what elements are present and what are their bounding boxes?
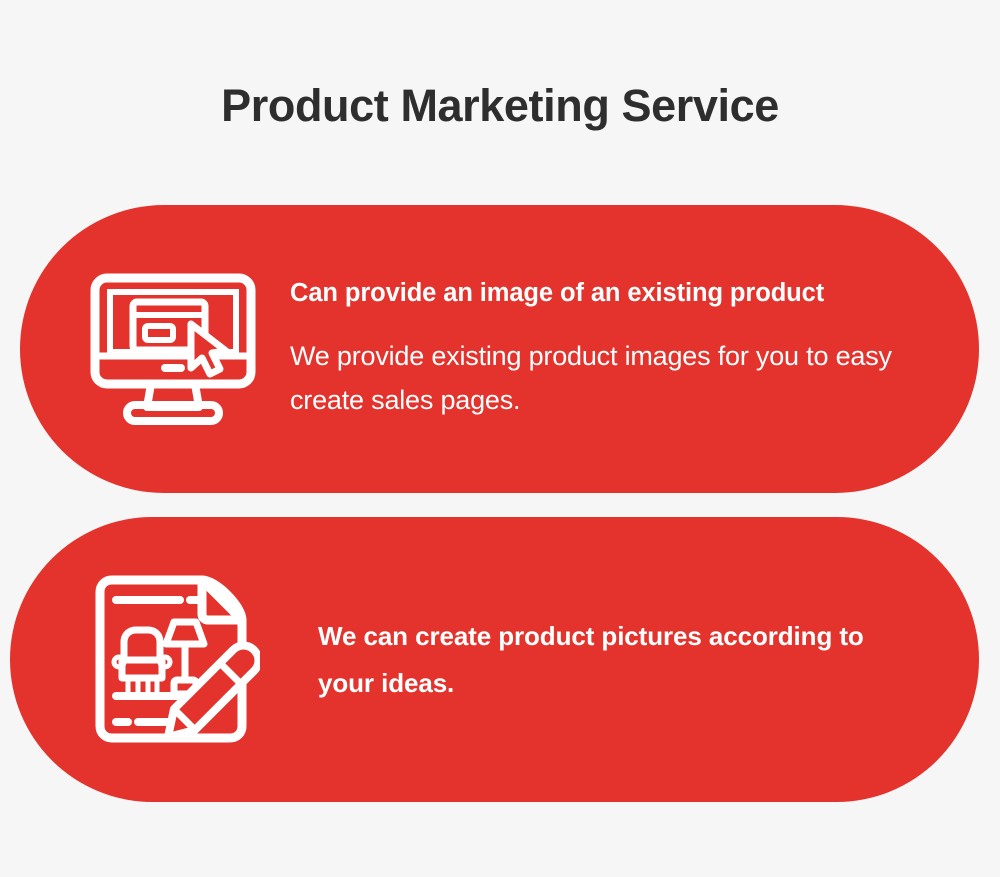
card-2-heading: We can create product pictures according… <box>318 613 919 707</box>
card-1-heading: Can provide an image of an existing prod… <box>290 276 919 310</box>
card-2-icon-wrapper <box>80 574 270 746</box>
card-1-icon-wrapper <box>78 272 268 427</box>
feature-card-existing-product[interactable]: Can provide an image of an existing prod… <box>20 205 979 493</box>
card-2-text-block: We can create product pictures according… <box>318 613 979 707</box>
page-title: Product Marketing Service <box>0 78 1000 134</box>
sketch-pad-pencil-icon <box>90 574 260 746</box>
card-1-body: We provide existing product images for y… <box>290 334 919 422</box>
desktop-monitor-cursor-icon <box>89 272 257 427</box>
feature-card-custom-product[interactable]: We can create product pictures according… <box>10 517 979 802</box>
card-1-text-block: Can provide an image of an existing prod… <box>290 276 979 422</box>
page-root: Product Marketing Service <box>0 0 1000 877</box>
